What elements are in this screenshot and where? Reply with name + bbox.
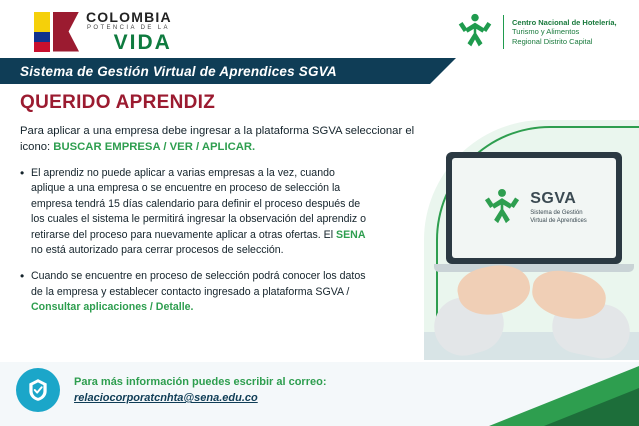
page-title: QUERIDO APRENDIZ [20,92,440,114]
sgva-title: SGVA [530,191,587,208]
list-item: El aprendiz no puede aplicar a varias em… [20,166,370,258]
bullet2-before: Cuando se encuentre en proceso de selecc… [31,270,366,297]
main-content: QUERIDO APRENDIZ Para aplicar a una empr… [20,92,440,326]
bullet1-highlight: SENA [336,229,365,241]
sena-logo-icon-screen [481,184,523,232]
colombia-line3: VIDA [86,32,172,53]
colombia-logo-text: COLOMBIA POTENCIA DE LA VIDA [86,10,172,53]
title-bar-text: Sistema de Gestión Virtual de Aprendices… [20,64,337,79]
sgva-subtitle-line1: Sistema de Gestión [530,210,587,216]
sena-center-line1: Centro Nacional de Hotelería, [512,18,617,27]
bullet2-highlight: Consultar aplicaciones / Detalle. [31,301,194,313]
sgva-subtitle-line2: Virtual de Aprendices [530,218,587,224]
colombia-line1: COLOMBIA [86,10,172,24]
sena-center-line3: Regional Distrito Capital [512,37,617,46]
bullet1-before: El aprendiz no puede aplicar a varias em… [31,167,366,240]
list-item: Cuando se encuentre en proceso de selecc… [20,269,370,315]
bullet1-after: no está autorizado para cerrar procesos … [31,244,284,256]
colombia-mark-icon [53,12,79,52]
colombia-flag-icon [34,12,50,52]
screen-text: SGVA Sistema de Gestión Virtual de Apren… [530,191,587,224]
sena-center-text: Centro Nacional de Hotelería, Turismo y … [512,18,617,46]
poster-page: COLOMBIA POTENCIA DE LA VIDA Centro Na [0,0,639,426]
sena-header-block: Centro Nacional de Hotelería, Turismo y … [455,12,617,52]
mail-contact-icon [16,368,60,412]
laptop-base [434,264,634,272]
title-bar: Sistema de Gestión Virtual de Aprendices… [0,58,430,84]
bullet-list: El aprendiz no puede aplicar a varias em… [20,166,440,315]
mail-glyph-icon [25,377,51,403]
laptop-screen-bezel: SGVA Sistema de Gestión Virtual de Apren… [446,152,622,264]
colombia-logo: COLOMBIA POTENCIA DE LA VIDA [34,10,172,53]
sena-divider [503,15,504,49]
footer-line1: Para más información puedes escribir al … [74,376,494,388]
footer-email[interactable]: relaciocorporatcnhta@sena.edu.co [74,392,494,404]
sena-logo-icon [455,12,495,52]
header: COLOMBIA POTENCIA DE LA VIDA Centro Na [0,0,639,62]
laptop: SGVA Sistema de Gestión Virtual de Apren… [446,152,622,272]
footer-text: Para más información puedes escribir al … [74,376,494,404]
sena-center-line2: Turismo y Alimentos [512,27,617,36]
intro-paragraph: Para aplicar a una empresa debe ingresar… [20,123,440,155]
laptop-illustration: SGVA Sistema de Gestión Virtual de Apren… [424,120,639,360]
intro-accent: BUSCAR EMPRESA / VER / APLICAR. [53,141,255,153]
laptop-screen: SGVA Sistema de Gestión Virtual de Apren… [452,158,616,258]
